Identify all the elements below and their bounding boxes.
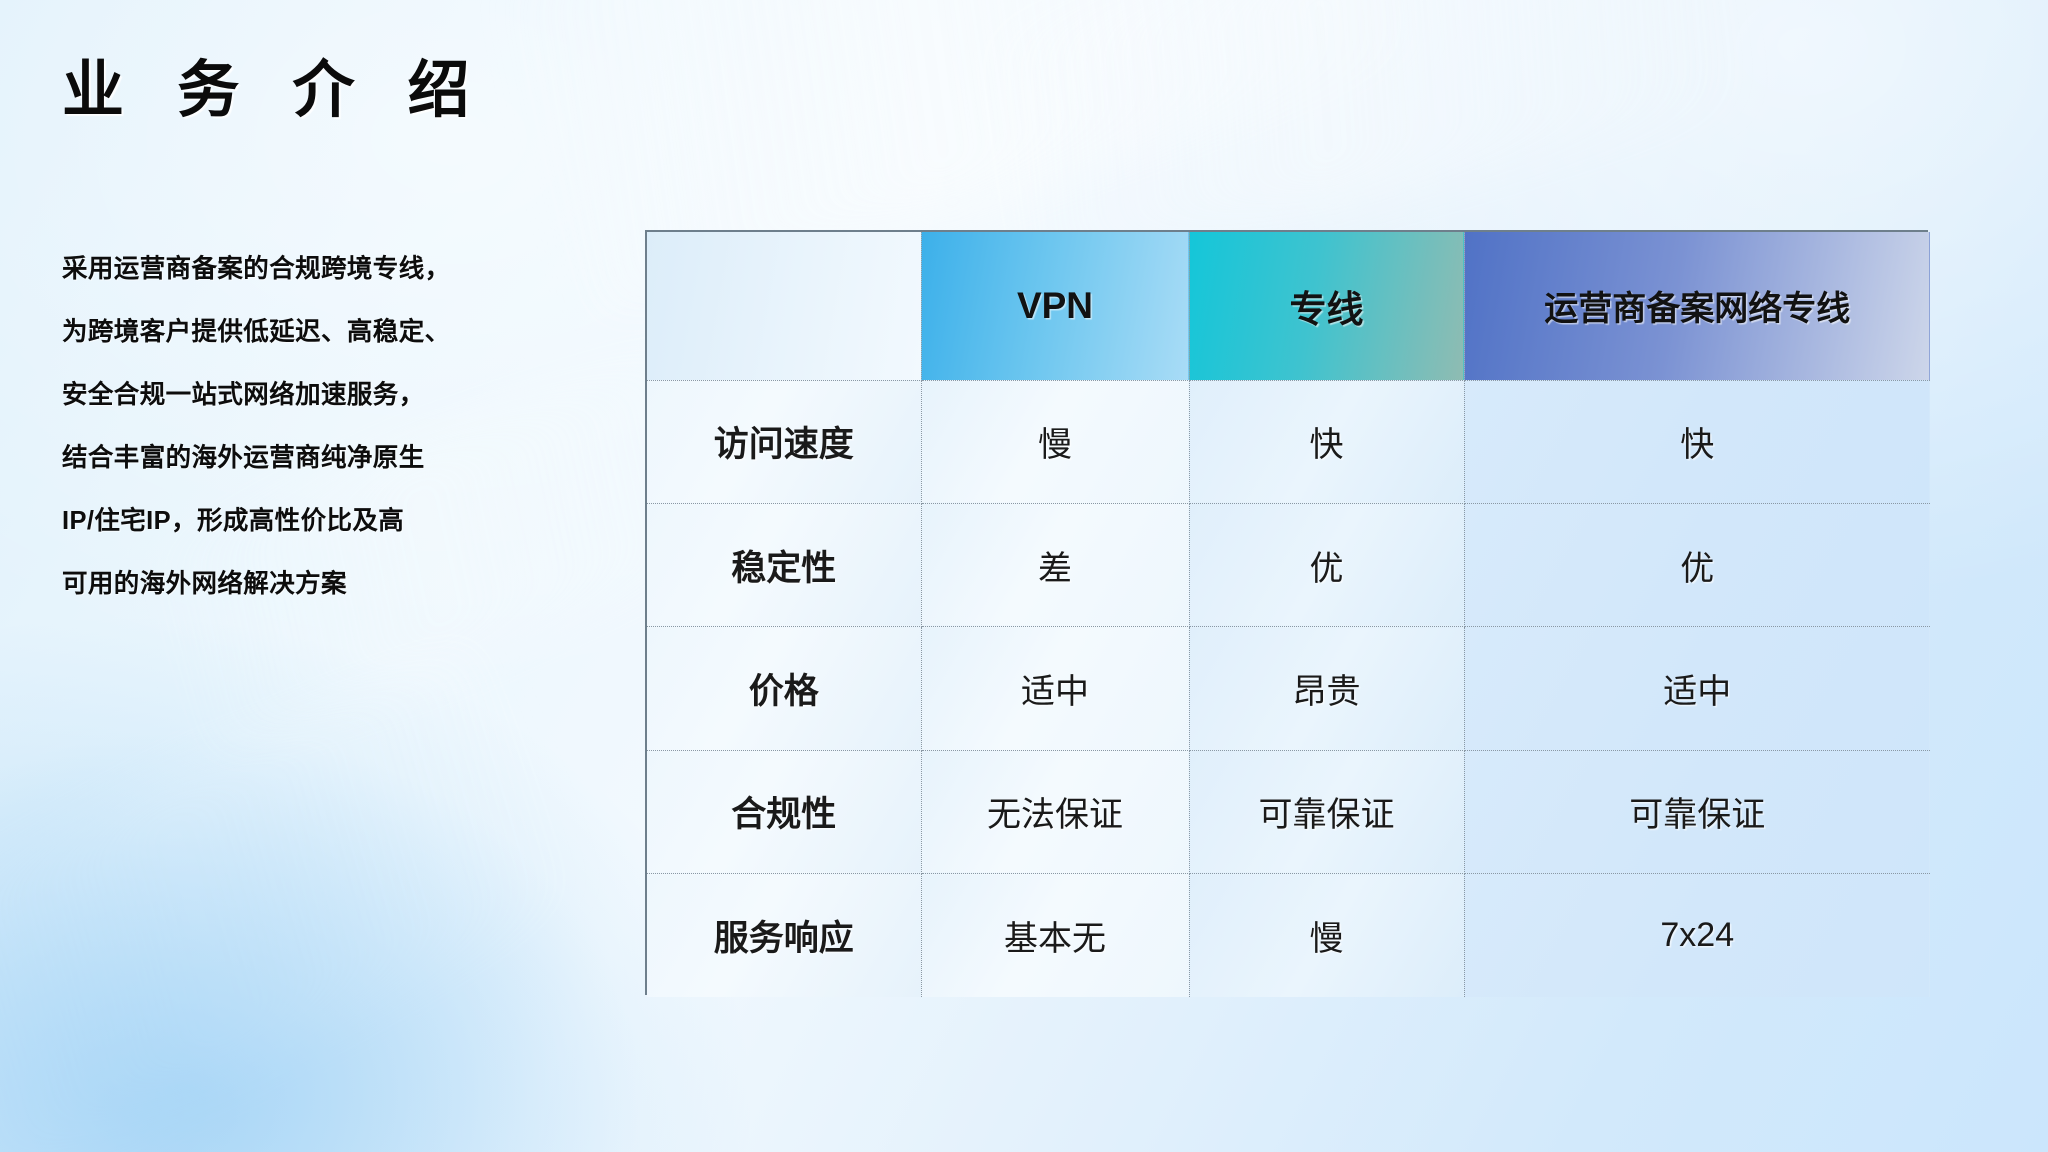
table-header-row: VPN 专线 运营商备案网络专线 bbox=[647, 232, 1930, 380]
row-label: 访问速度 bbox=[647, 380, 921, 503]
table-row: 稳定性 差 优 优 bbox=[647, 503, 1930, 626]
cell-dedicated-line: 慢 bbox=[1189, 874, 1464, 997]
table-body: 访问速度 慢 快 快 稳定性 差 优 优 价格 适中 昂贵 适中 bbox=[647, 380, 1930, 997]
intro-line: 可用的海外网络解决方案 bbox=[62, 553, 492, 616]
table-row: 价格 适中 昂贵 适中 bbox=[647, 627, 1930, 750]
table-row: 合规性 无法保证 可靠保证 可靠保证 bbox=[647, 750, 1930, 873]
comparison-table: VPN 专线 运营商备案网络专线 访问速度 慢 快 快 稳定性 差 优 优 bbox=[645, 230, 1928, 995]
cell-vpn: 慢 bbox=[921, 380, 1189, 503]
table-header-dedicated-line: 专线 bbox=[1189, 232, 1464, 380]
cell-vpn: 适中 bbox=[921, 627, 1189, 750]
table-header-filed-network-line: 运营商备案网络专线 bbox=[1464, 232, 1930, 380]
cell-vpn: 基本无 bbox=[921, 874, 1189, 997]
row-label: 服务响应 bbox=[647, 874, 921, 997]
cell-filed-network-line: 可靠保证 bbox=[1464, 750, 1930, 873]
background-corner-glow bbox=[0, 732, 640, 1152]
intro-line: IP/住宅IP，形成高性价比及高 bbox=[62, 490, 492, 553]
row-label: 稳定性 bbox=[647, 503, 921, 626]
cell-filed-network-line: 优 bbox=[1464, 503, 1930, 626]
cell-vpn: 差 bbox=[921, 503, 1189, 626]
intro-line: 采用运营商备案的合规跨境专线， bbox=[62, 238, 492, 301]
cell-dedicated-line: 昂贵 bbox=[1189, 627, 1464, 750]
intro-line: 为跨境客户提供低延迟、高稳定、 bbox=[62, 301, 492, 364]
cell-dedicated-line: 快 bbox=[1189, 380, 1464, 503]
cell-dedicated-line: 优 bbox=[1189, 503, 1464, 626]
table-row: 访问速度 慢 快 快 bbox=[647, 380, 1930, 503]
cell-dedicated-line: 可靠保证 bbox=[1189, 750, 1464, 873]
cell-filed-network-line: 7x24 bbox=[1464, 874, 1930, 997]
cell-filed-network-line: 快 bbox=[1464, 380, 1930, 503]
table-header-vpn: VPN bbox=[921, 232, 1189, 380]
page-title: 业 务 介 绍 bbox=[62, 52, 488, 130]
cell-filed-network-line: 适中 bbox=[1464, 627, 1930, 750]
row-label: 价格 bbox=[647, 627, 921, 750]
intro-paragraph: 采用运营商备案的合规跨境专线， 为跨境客户提供低延迟、高稳定、 安全合规一站式网… bbox=[62, 238, 492, 616]
intro-line: 结合丰富的海外运营商纯净原生 bbox=[62, 427, 492, 490]
background-light-streak bbox=[0, 622, 610, 1152]
row-label: 合规性 bbox=[647, 750, 921, 873]
slide-canvas: 业 务 介 绍 采用运营商备案的合规跨境专线， 为跨境客户提供低延迟、高稳定、 … bbox=[0, 0, 2048, 1152]
comparison-table-grid: VPN 专线 运营商备案网络专线 访问速度 慢 快 快 稳定性 差 优 优 bbox=[647, 232, 1930, 997]
table-row: 服务响应 基本无 慢 7x24 bbox=[647, 874, 1930, 997]
cell-vpn: 无法保证 bbox=[921, 750, 1189, 873]
table-header: VPN 专线 运营商备案网络专线 bbox=[647, 232, 1930, 380]
table-header-blank bbox=[647, 232, 921, 380]
intro-line: 安全合规一站式网络加速服务， bbox=[62, 364, 492, 427]
